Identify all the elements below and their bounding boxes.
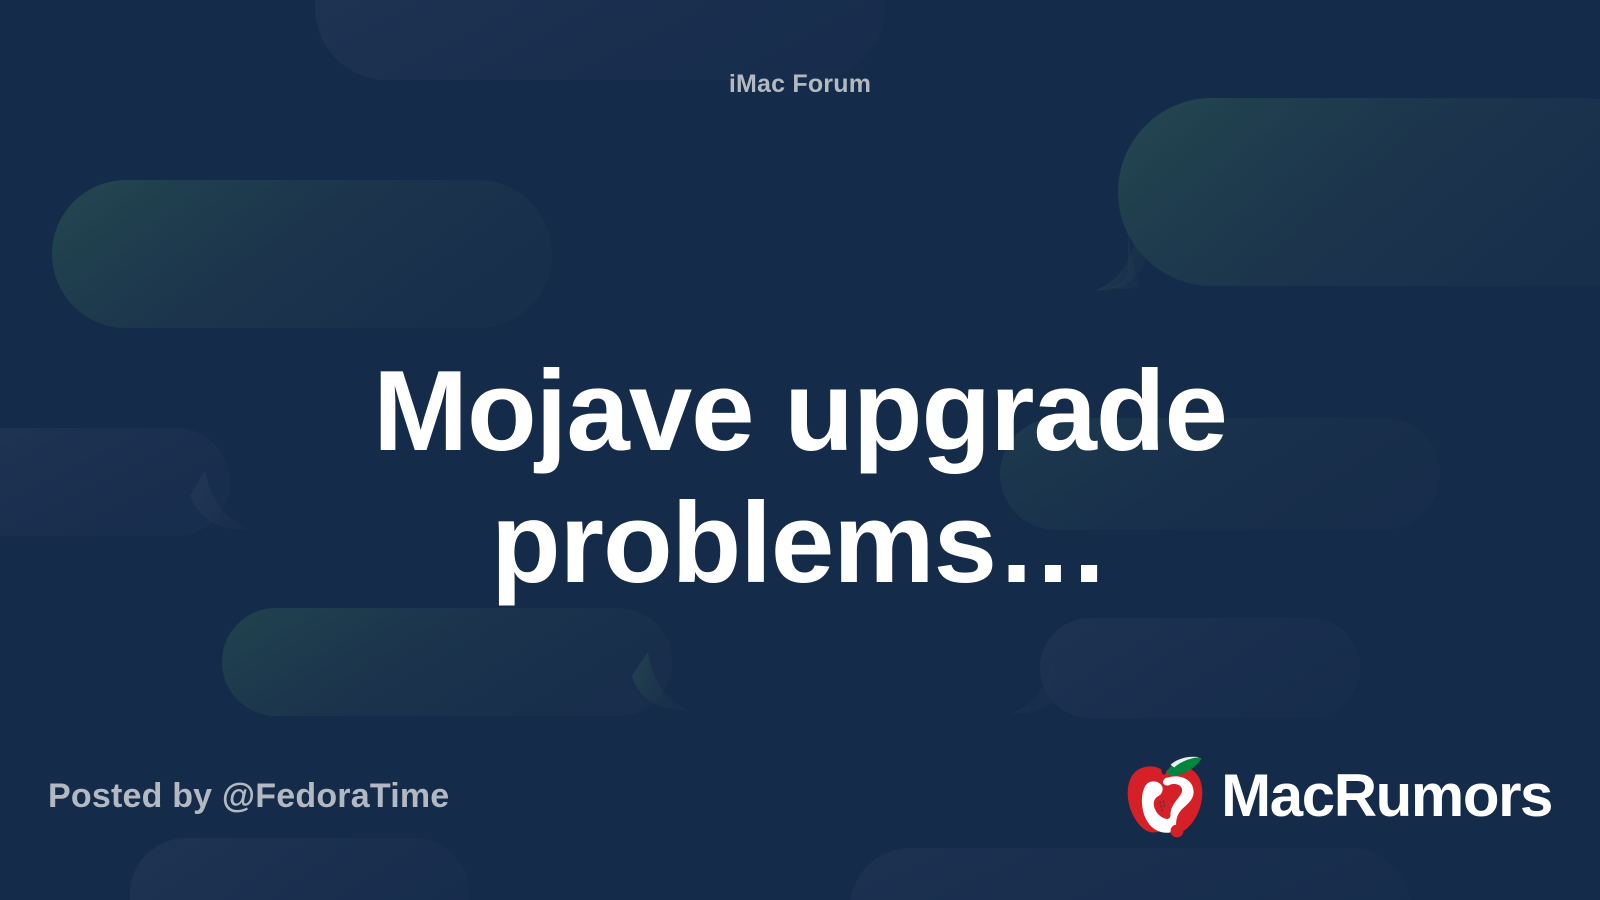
forum-label: iMac Forum	[729, 72, 871, 97]
posted-by-label: Posted by @FedoraTime	[48, 777, 449, 816]
macrumors-apple-icon	[1119, 750, 1211, 842]
card-footer: Posted by @FedoraTime	[0, 710, 1600, 900]
macrumors-wordmark: MacRumors	[1221, 766, 1552, 826]
macrumors-logo: MacRumors	[1119, 750, 1552, 842]
share-card: iMac Forum Mojave upgrade problems… Post…	[0, 0, 1600, 900]
headline-wrapper: Mojave upgrade problems…	[0, 270, 1600, 687]
page-title: Mojave upgrade problems…	[210, 346, 1390, 610]
